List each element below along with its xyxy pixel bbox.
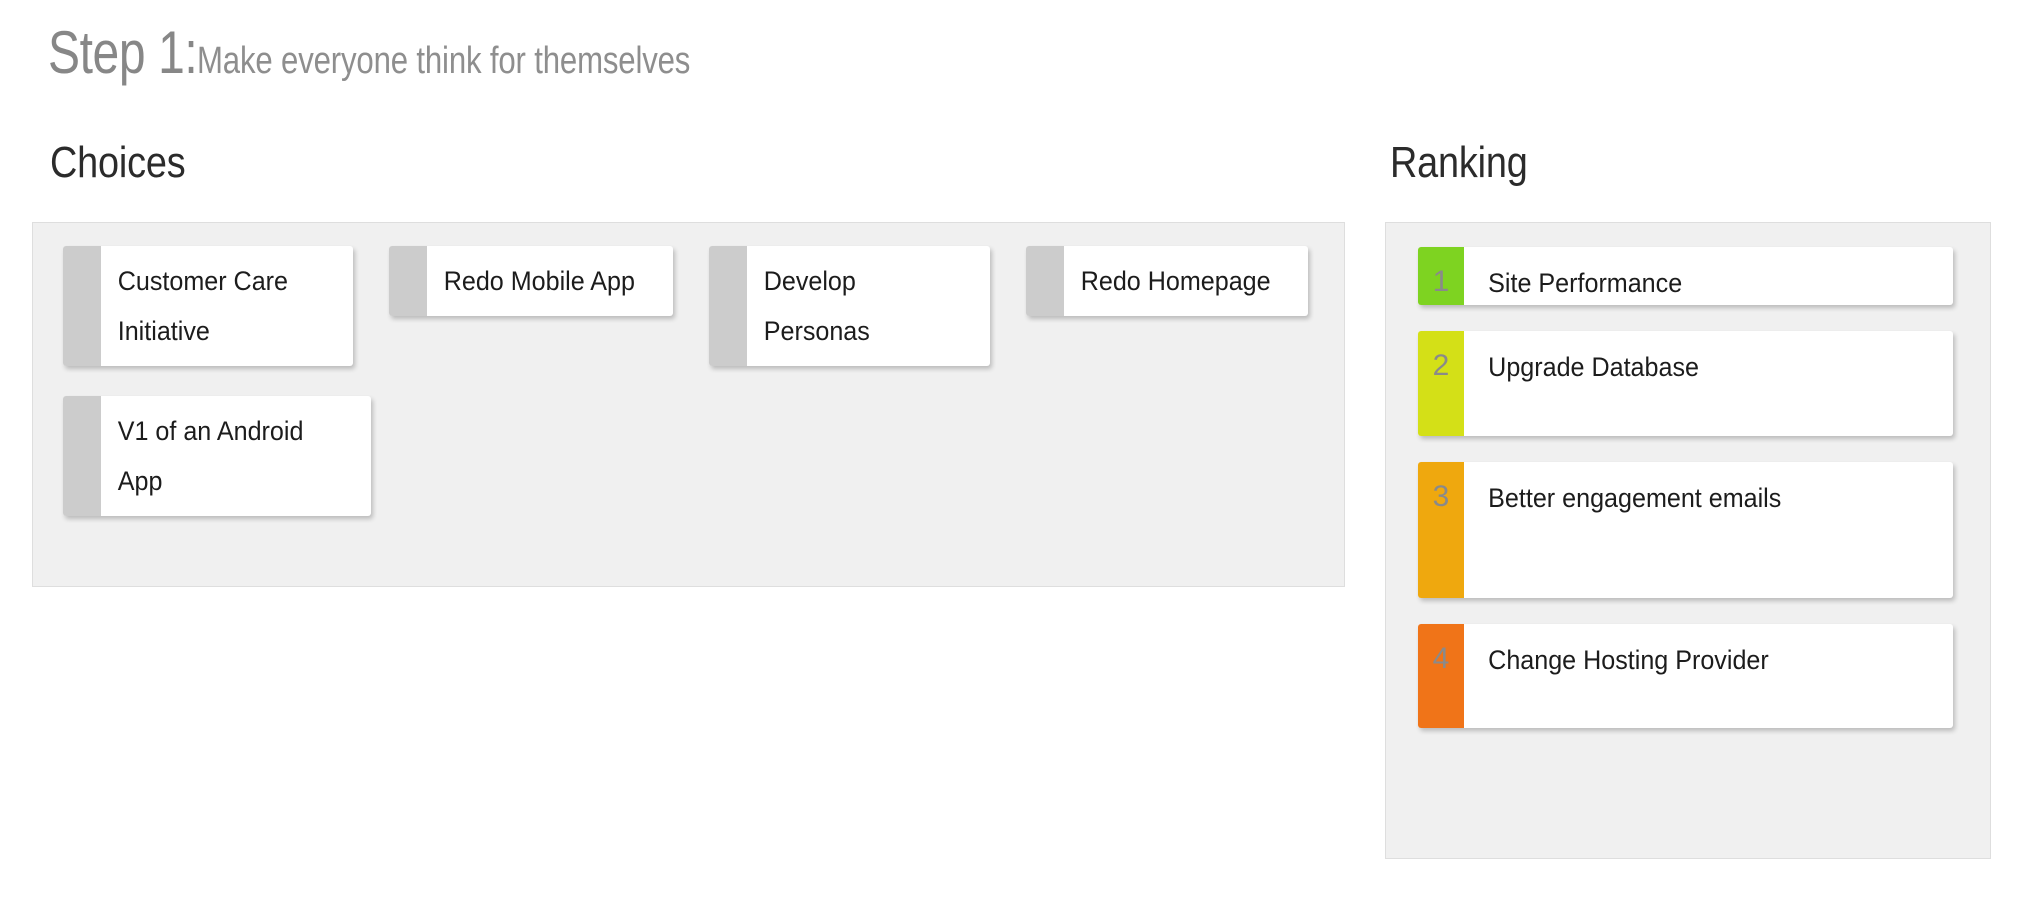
- choice-card[interactable]: Customer Care Initiative: [63, 246, 353, 366]
- choices-section-title: Choices: [50, 138, 186, 188]
- choice-card[interactable]: Redo Mobile App: [389, 246, 673, 316]
- rank-number-badge: 2: [1418, 331, 1464, 436]
- ranking-card[interactable]: 2Upgrade Database: [1418, 331, 1953, 436]
- ranking-label: Change Hosting Provider: [1464, 624, 1784, 728]
- choice-row: Customer Care InitiativeRedo Mobile AppD…: [63, 246, 1344, 366]
- drag-handle-icon[interactable]: [389, 246, 427, 316]
- drag-handle-icon[interactable]: [1026, 246, 1064, 316]
- choice-card[interactable]: V1 of an Android App: [63, 396, 371, 516]
- ranking-card[interactable]: 3Better engagement emails: [1418, 462, 1953, 598]
- rank-number-badge: 3: [1418, 462, 1464, 598]
- page-title: Step 1:: [48, 18, 197, 87]
- choice-card[interactable]: Develop Personas: [709, 246, 990, 366]
- choices-panel: Customer Care InitiativeRedo Mobile AppD…: [32, 222, 1345, 587]
- ranking-label: Better engagement emails: [1464, 462, 1796, 598]
- page-subtitle: Make everyone think for themselves: [197, 40, 690, 83]
- choice-label: V1 of an Android App: [101, 396, 352, 516]
- drag-handle-icon[interactable]: [63, 396, 101, 516]
- rank-number-badge: 1: [1418, 247, 1464, 305]
- ranking-card[interactable]: 1Site Performance: [1418, 247, 1953, 305]
- choice-label: Redo Homepage: [1064, 246, 1291, 316]
- rank-number-badge: 4: [1418, 624, 1464, 728]
- ranking-card[interactable]: 4Change Hosting Provider: [1418, 624, 1953, 728]
- ranking-panel: 1Site Performance2Upgrade Database3Bette…: [1385, 222, 1991, 859]
- page-header: Step 1: Make everyone think for themselv…: [48, 18, 799, 87]
- choice-row: V1 of an Android App: [63, 396, 1344, 516]
- ranking-label: Upgrade Database: [1464, 331, 1714, 436]
- choices-dropzone[interactable]: Customer Care InitiativeRedo Mobile AppD…: [33, 223, 1344, 586]
- choice-label: Develop Personas: [747, 246, 973, 366]
- choice-label: Customer Care Initiative: [101, 246, 335, 366]
- drag-handle-icon[interactable]: [63, 246, 101, 366]
- ranking-dropzone[interactable]: 1Site Performance2Upgrade Database3Bette…: [1386, 223, 1990, 858]
- drag-handle-icon[interactable]: [709, 246, 747, 366]
- choice-label: Redo Mobile App: [427, 246, 655, 316]
- ranking-label: Site Performance: [1464, 247, 1697, 305]
- ranking-section-title: Ranking: [1390, 138, 1528, 188]
- choice-card[interactable]: Redo Homepage: [1026, 246, 1308, 316]
